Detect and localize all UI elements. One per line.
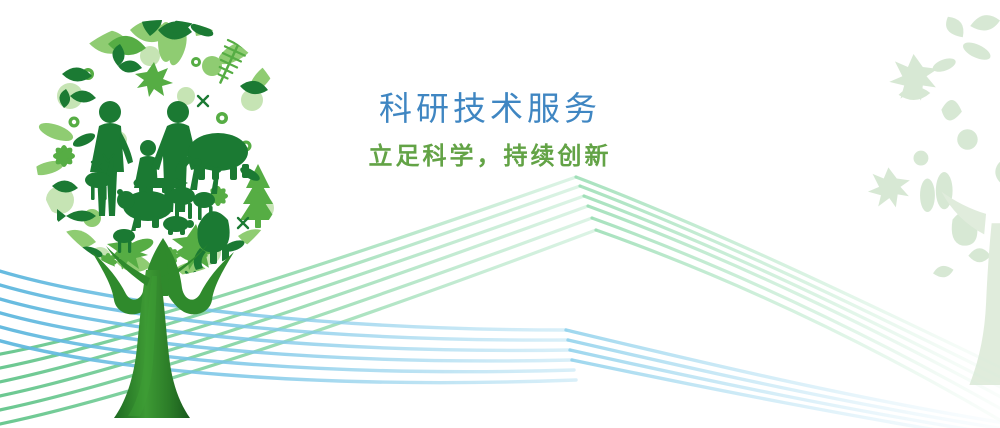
hero-text-block: 科研技术服务 立足科学，持续创新 [300, 88, 680, 171]
eco-tree [0, 0, 1000, 428]
banner-hero: 科研技术服务 立足科学，持续创新 [0, 0, 1000, 428]
page-title: 科研技术服务 [300, 88, 680, 129]
page-subtitle: 立足科学，持续创新 [300, 141, 680, 171]
